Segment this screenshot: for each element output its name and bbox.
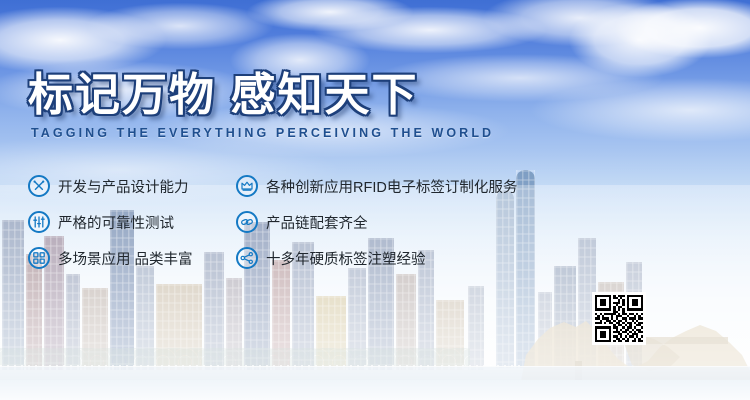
chain-link-icon — [236, 211, 258, 233]
feature-item-product-chain[interactable]: 产品链配套齐全 — [236, 211, 368, 233]
feature-row: 严格的可靠性测试 产品链配套齐全 — [28, 204, 588, 240]
promotional-banner: 标记万物 感知天下 TAGGING THE EVERYTHING PERCEIV… — [0, 0, 750, 400]
feature-label: 各种创新应用RFID电子标签订制化服务 — [266, 176, 517, 197]
share-nodes-icon — [236, 247, 258, 269]
feature-label: 产品链配套齐全 — [266, 212, 368, 233]
feature-label: 开发与产品设计能力 — [58, 176, 189, 197]
feature-list: 开发与产品设计能力 各种创新应用RFID电子标签订制化服务 — [28, 168, 588, 276]
page-subtitle: TAGGING THE EVERYTHING PERCEIVING THE WO… — [31, 126, 494, 140]
grid-icon — [28, 247, 50, 269]
feature-row: 多场景应用 品类丰富 十多年硬质标签注塑经验 — [28, 240, 588, 276]
feature-item-reliability-testing[interactable]: 严格的可靠性测试 — [28, 211, 236, 233]
water-strip — [0, 380, 750, 400]
crown-icon — [236, 175, 258, 197]
page-title: 标记万物 感知天下 — [28, 72, 494, 117]
feature-item-molding-experience[interactable]: 十多年硬质标签注塑经验 — [236, 247, 426, 269]
feature-item-rfid-service[interactable]: 各种创新应用RFID电子标签订制化服务 — [236, 175, 517, 197]
feature-item-multi-scenario[interactable]: 多场景应用 品类丰富 — [28, 247, 236, 269]
feature-item-development[interactable]: 开发与产品设计能力 — [28, 175, 236, 197]
feature-row: 开发与产品设计能力 各种创新应用RFID电子标签订制化服务 — [28, 168, 588, 204]
crossed-tools-icon — [28, 175, 50, 197]
sliders-icon — [28, 211, 50, 233]
feature-label: 多场景应用 品类丰富 — [58, 248, 193, 269]
qr-code-modules — [595, 295, 643, 342]
feature-label: 严格的可靠性测试 — [58, 212, 174, 233]
headline-block: 标记万物 感知天下 TAGGING THE EVERYTHING PERCEIV… — [28, 72, 494, 140]
qr-code[interactable] — [592, 292, 646, 345]
feature-label: 十多年硬质标签注塑经验 — [266, 248, 426, 269]
